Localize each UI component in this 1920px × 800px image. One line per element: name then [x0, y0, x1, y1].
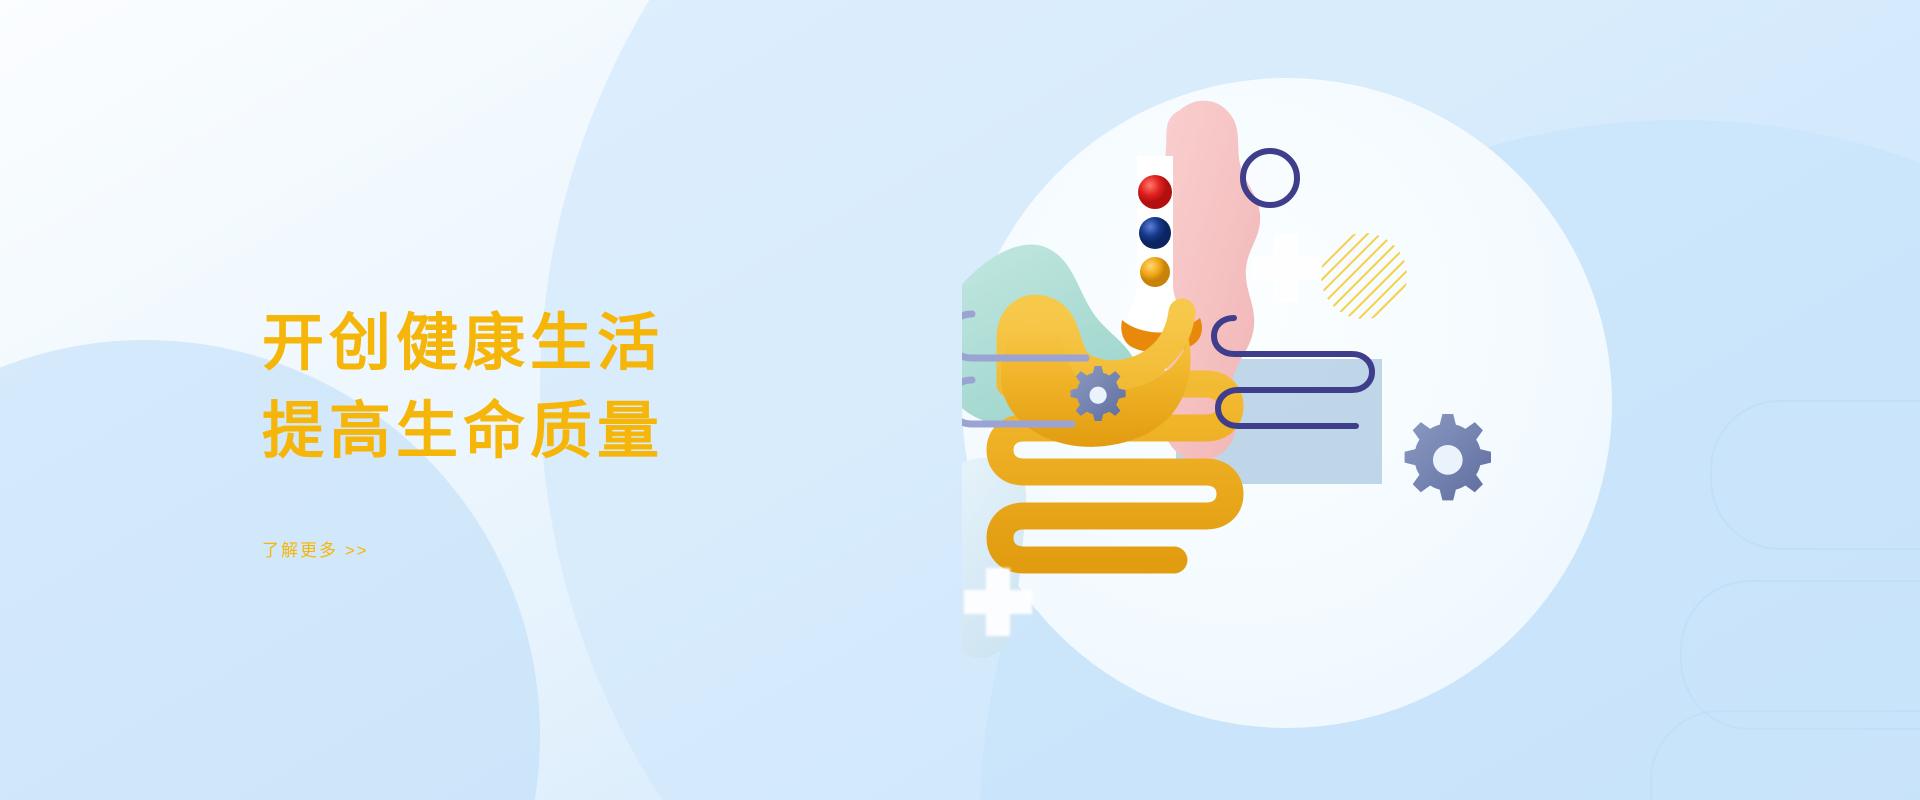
hatched-circle-icon — [1321, 233, 1407, 319]
pill-navy — [1139, 217, 1171, 249]
background-rounded-rect-3 — [1650, 710, 1920, 800]
hero-banner: 开创健康生活 提高生命质量 了解更多 >> — [0, 0, 1920, 800]
headline-line-1: 开创健康生活 — [262, 300, 882, 388]
headline-line-2: 提高生命质量 — [262, 388, 882, 476]
medical-cross-icon-top — [1252, 234, 1320, 302]
ring-outline-icon — [1243, 151, 1297, 205]
gear-small-icon — [1071, 366, 1126, 421]
background-rounded-rect-1 — [1680, 580, 1920, 730]
background-rounded-rect-2 — [1710, 400, 1920, 550]
pill-amber — [1140, 257, 1170, 287]
learn-more-link[interactable]: 了解更多 >> — [262, 536, 369, 561]
pill-red — [1138, 175, 1172, 209]
digestive-system-illustration — [962, 78, 1612, 728]
hero-copy-block: 开创健康生活 提高生命质量 了解更多 >> — [262, 300, 882, 561]
gear-large-icon — [1405, 414, 1491, 500]
